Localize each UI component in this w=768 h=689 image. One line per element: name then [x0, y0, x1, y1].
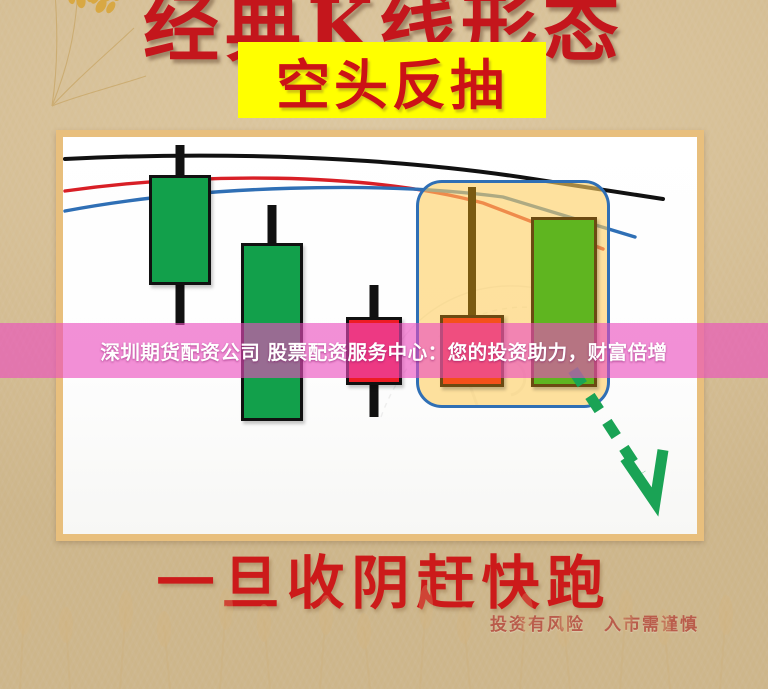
down-arrow-icon [563, 362, 693, 522]
promo-banner-text: 深圳期货配资公司 股票配资服务中心：您的投资助力，财富倍增 [100, 336, 667, 365]
candle-2 [241, 205, 303, 421]
candle-1-body [149, 175, 211, 285]
subtitle-text: 空头反抽 [238, 42, 546, 118]
poster-root: 经典K线形态 空头反抽 [0, 0, 768, 689]
risk-disclaimer: 投资有风险 入市需谨慎 [490, 610, 740, 635]
candle-1 [149, 145, 211, 325]
promo-banner[interactable]: 深圳期货配资公司 股票配资服务中心：您的投资助力，财富倍增 [0, 323, 768, 378]
footer-slogan: 一旦收阴赶快跑 [0, 536, 768, 620]
